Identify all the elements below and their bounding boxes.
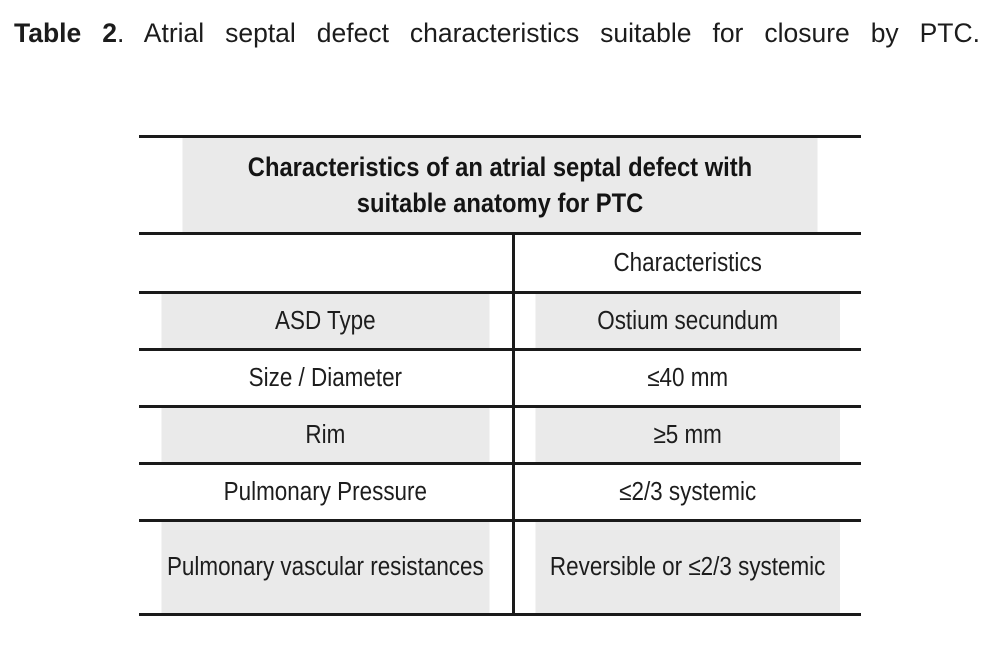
asd-characteristics-table: Characteristics of an atrial septal defe… bbox=[139, 135, 861, 616]
table-row: Rim ≥5 mm bbox=[139, 407, 861, 464]
table-row: Pulmonary vascular resistances Reversibl… bbox=[139, 521, 861, 615]
caption-label: Table 2 bbox=[14, 18, 117, 48]
caption-text: . Atrial septal defect characteristics s… bbox=[117, 18, 980, 48]
table-header-row: Characteristics of an atrial septal defe… bbox=[139, 137, 861, 234]
row-label-pulmonary-vascular-resistances: Pulmonary vascular resistances bbox=[161, 521, 490, 615]
table-row: ASD Type Ostium secundum bbox=[139, 293, 861, 350]
column-header-blank bbox=[161, 234, 490, 293]
table-column-header-row: Characteristics bbox=[139, 234, 861, 293]
table-row: Pulmonary Pressure ≤2/3 systemic bbox=[139, 464, 861, 521]
row-value-size-diameter: ≤40 mm bbox=[534, 350, 840, 407]
row-value-pulmonary-pressure: ≤2/3 systemic bbox=[534, 464, 840, 521]
table-container: Characteristics of an atrial septal defe… bbox=[139, 135, 861, 616]
table-caption: Table 2. Atrial septal defect characteri… bbox=[14, 14, 980, 90]
row-value-asd-type: Ostium secundum bbox=[534, 293, 840, 350]
row-value-rim: ≥5 mm bbox=[534, 407, 840, 464]
column-header-characteristics: Characteristics bbox=[534, 234, 840, 293]
row-label-size-diameter: Size / Diameter bbox=[161, 350, 490, 407]
table-body: Characteristics of an atrial septal defe… bbox=[139, 137, 861, 615]
row-label-asd-type: ASD Type bbox=[161, 293, 490, 350]
table-header-title: Characteristics of an atrial septal defe… bbox=[182, 137, 817, 234]
row-label-rim: Rim bbox=[161, 407, 490, 464]
row-value-pulmonary-vascular-resistances: Reversible or ≤2/3 systemic bbox=[534, 521, 840, 615]
row-label-pulmonary-pressure: Pulmonary Pressure bbox=[161, 464, 490, 521]
table-row: Size / Diameter ≤40 mm bbox=[139, 350, 861, 407]
